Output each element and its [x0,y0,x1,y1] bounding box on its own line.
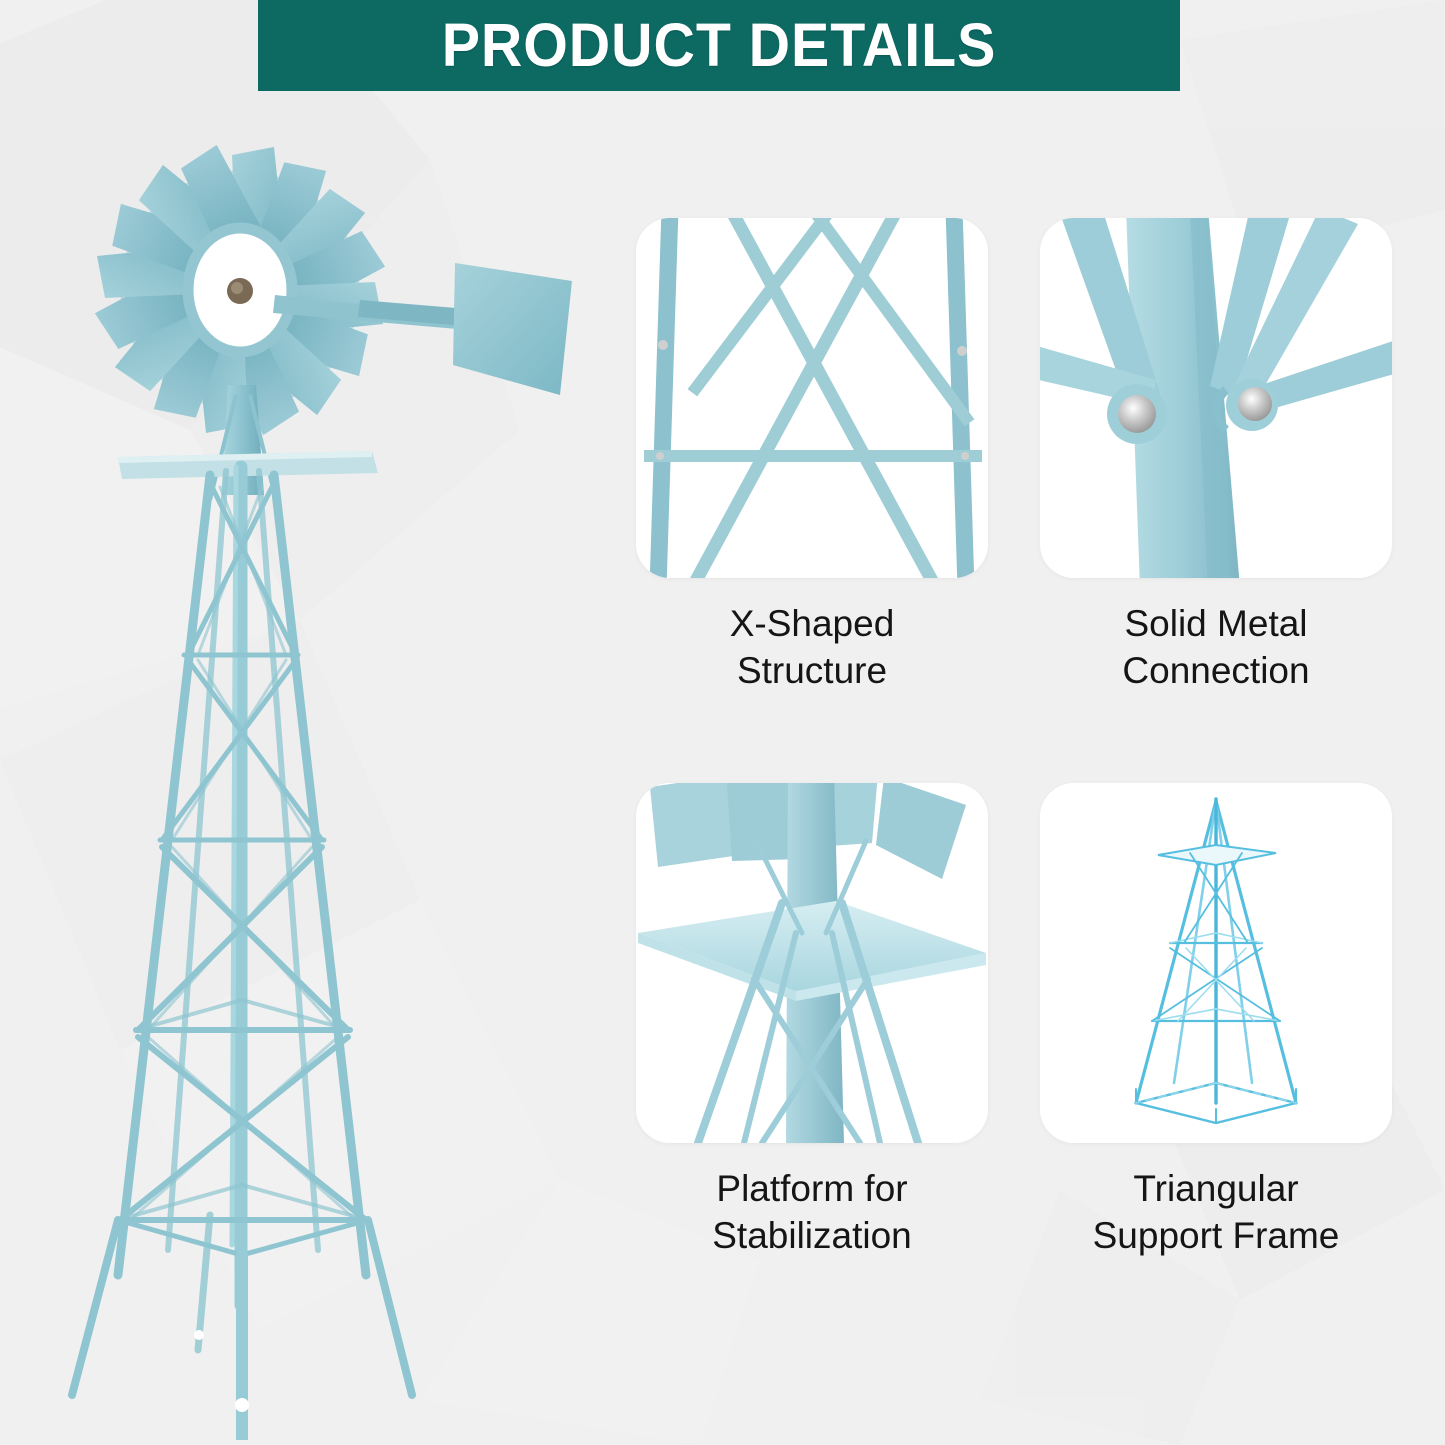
infographic-canvas: PRODUCT DETAILS [0,0,1445,1445]
feature-solid-metal-connection: Solid Metal Connection [1040,218,1392,695]
feature-x-shaped-structure: X-Shaped Structure [636,218,988,695]
feature-label-line1: Platform for [716,1168,907,1209]
feature-grid: X-Shaped Structure [636,218,1392,1338]
header-banner: PRODUCT DETAILS [258,0,1180,91]
feature-caption: Platform for Stabilization [636,1165,988,1260]
feature-label-line1: Triangular [1133,1168,1298,1209]
feature-triangular-support-frame: Triangular Support Frame [1040,783,1392,1260]
feature-label-line2: Structure [636,647,988,694]
feature-label-line2: Stabilization [636,1212,988,1259]
x-braced-tower-section-photo [636,218,988,578]
feature-card-image [636,783,988,1143]
feature-platform-for-stabilization: Platform for Stabilization [636,783,988,1260]
hero-product-image [60,95,620,1440]
feature-card-image [1040,218,1392,578]
metal-windmill-illustration [60,95,620,1440]
stabilization-platform [118,451,378,479]
feature-caption: X-Shaped Structure [636,600,988,695]
feature-label-line2: Support Frame [1040,1212,1392,1259]
feature-label-line1: Solid Metal [1124,603,1307,644]
bolted-joint-closeup-photo [1040,218,1392,578]
tower-lattice [118,467,368,1305]
feature-caption: Triangular Support Frame [1040,1165,1392,1260]
feature-label-line1: X-Shaped [730,603,895,644]
page-title: PRODUCT DETAILS [442,15,997,76]
feature-card-image [1040,783,1392,1143]
tower-frame-line-diagram [1040,783,1392,1143]
feature-label-line2: Connection [1040,647,1392,694]
feature-caption: Solid Metal Connection [1040,600,1392,695]
platform-closeup-photo [636,783,988,1143]
feature-card-image [636,218,988,578]
